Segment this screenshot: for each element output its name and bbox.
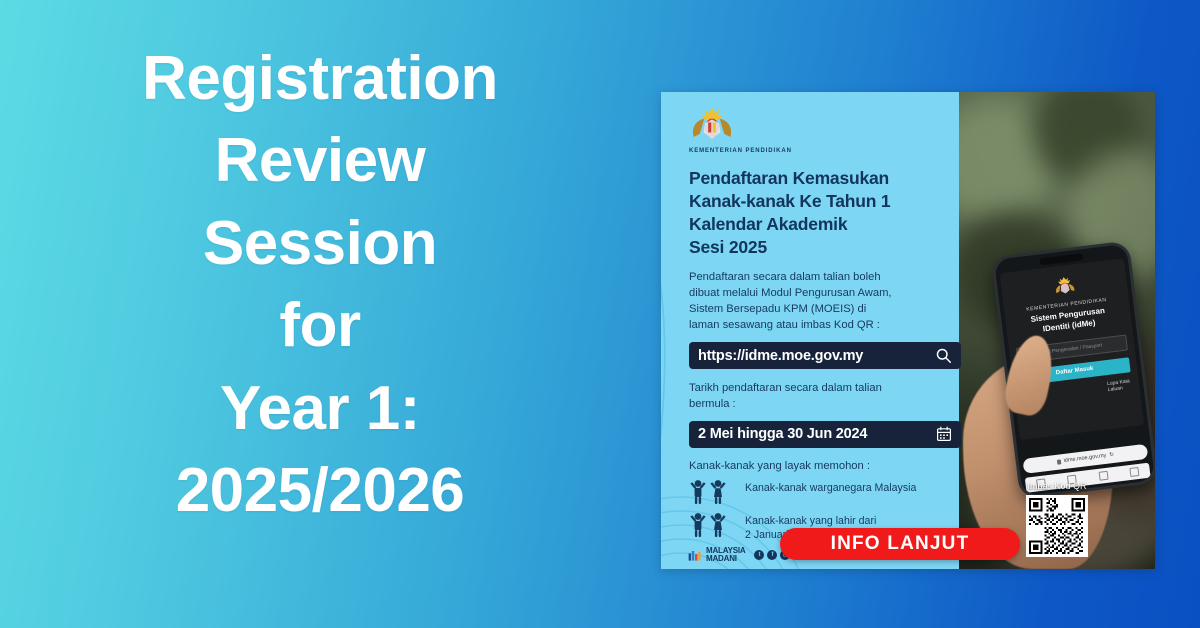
madani-mark-icon — [687, 547, 703, 563]
malaysia-coat-of-arms-icon — [689, 106, 735, 142]
malaysia-madani-logo: MALAYSIA MADANI — [687, 547, 745, 563]
headline-line-5: Year 1: — [0, 368, 640, 450]
registration-date-value: 2 Mei hingga 30 Jun 2024 — [698, 426, 867, 442]
calendar-icon — [936, 426, 952, 442]
bookmarks-icon[interactable] — [1098, 471, 1108, 481]
facebook-icon[interactable]: f — [767, 550, 777, 560]
info-lanjut-button[interactable]: INFO LANJUT — [780, 528, 1020, 560]
headline-line-6: 2025/2026 — [0, 450, 640, 532]
poster-body-line-4: laman sesawang atau imbas Kod QR : — [689, 318, 961, 334]
poster-body-text: Pendaftaran secara dalam talian boleh di… — [689, 270, 961, 334]
phone-forgot-password-link[interactable]: Lupa Kata Laluan — [1107, 378, 1131, 394]
twitter-icon[interactable]: t — [754, 550, 764, 560]
registration-date-intro-line-2: bermula : — [689, 397, 961, 413]
poster-body-line-2: dibuat melalui Modul Pengurusan Awam, — [689, 286, 961, 302]
headline-line-4: for — [0, 285, 640, 367]
headline-line-1: Registration — [0, 38, 640, 120]
lock-icon — [1057, 459, 1062, 464]
ministry-label: KEMENTERIAN PENDIDIKAN — [689, 148, 961, 154]
website-url-value: https://idme.moe.gov.my — [698, 348, 863, 364]
phone-browser-url: idme.moe.gov.my — [1063, 449, 1108, 469]
reload-icon[interactable]: ↻ — [1109, 448, 1115, 463]
qr-label: Imbas Kod QR — [959, 481, 1155, 491]
registration-date-intro: Tarikh pendaftaran secara dalam talian b… — [689, 381, 961, 413]
malaysia-coat-of-arms-icon — [1050, 274, 1078, 297]
headline-line-3: Session — [0, 203, 640, 285]
poster-title: Pendaftaran Kemasukan Kanak-kanak Ke Tah… — [689, 167, 961, 259]
eligibility-heading: Kanak-kanak yang layak memohon : — [689, 460, 961, 472]
poster-body-line-3: Sistem Bersepadu KPM (MOEIS) di — [689, 302, 961, 318]
qr-code[interactable] — [1026, 495, 1088, 557]
page-title: Registration Review Session for Year 1: … — [0, 38, 640, 533]
search-icon — [935, 347, 952, 364]
registration-date-box: 2 Mei hingga 30 Jun 2024 — [689, 421, 961, 448]
website-url-box[interactable]: https://idme.moe.gov.my — [689, 342, 961, 369]
poster-title-line-1: Pendaftaran Kemasukan — [689, 167, 961, 190]
registration-date-intro-line-1: Tarikh pendaftaran secara dalam talian — [689, 381, 961, 397]
children-icon — [689, 512, 735, 538]
eligibility-item-text: Kanak-kanak warganegara Malaysia — [745, 479, 916, 496]
eligibility-item: Kanak-kanak warganegara Malaysia — [689, 479, 961, 505]
headline-line-2: Review — [0, 120, 640, 202]
poster-content: KEMENTERIAN PENDIDIKAN Pendaftaran Kemas… — [689, 106, 961, 550]
poster-title-line-3: Kalendar Akademik — [689, 213, 961, 236]
children-icon — [689, 479, 735, 505]
promo-banner: Registration Review Session for Year 1: … — [0, 0, 1200, 628]
tabs-icon[interactable] — [1129, 467, 1139, 477]
madani-text: MALAYSIA MADANI — [706, 547, 745, 563]
poster-title-line-4: Sesi 2025 — [689, 236, 961, 259]
phone-photo-panel: KEMENTERIAN PENDIDIKAN Sistem Pengurusan… — [959, 92, 1155, 569]
poster-body-line-1: Pendaftaran secara dalam talian boleh — [689, 270, 961, 286]
poster-card: KEMENTERIAN PENDIDIKAN Sistem Pengurusan… — [661, 92, 1155, 569]
poster-title-line-2: Kanak-kanak Ke Tahun 1 — [689, 190, 961, 213]
